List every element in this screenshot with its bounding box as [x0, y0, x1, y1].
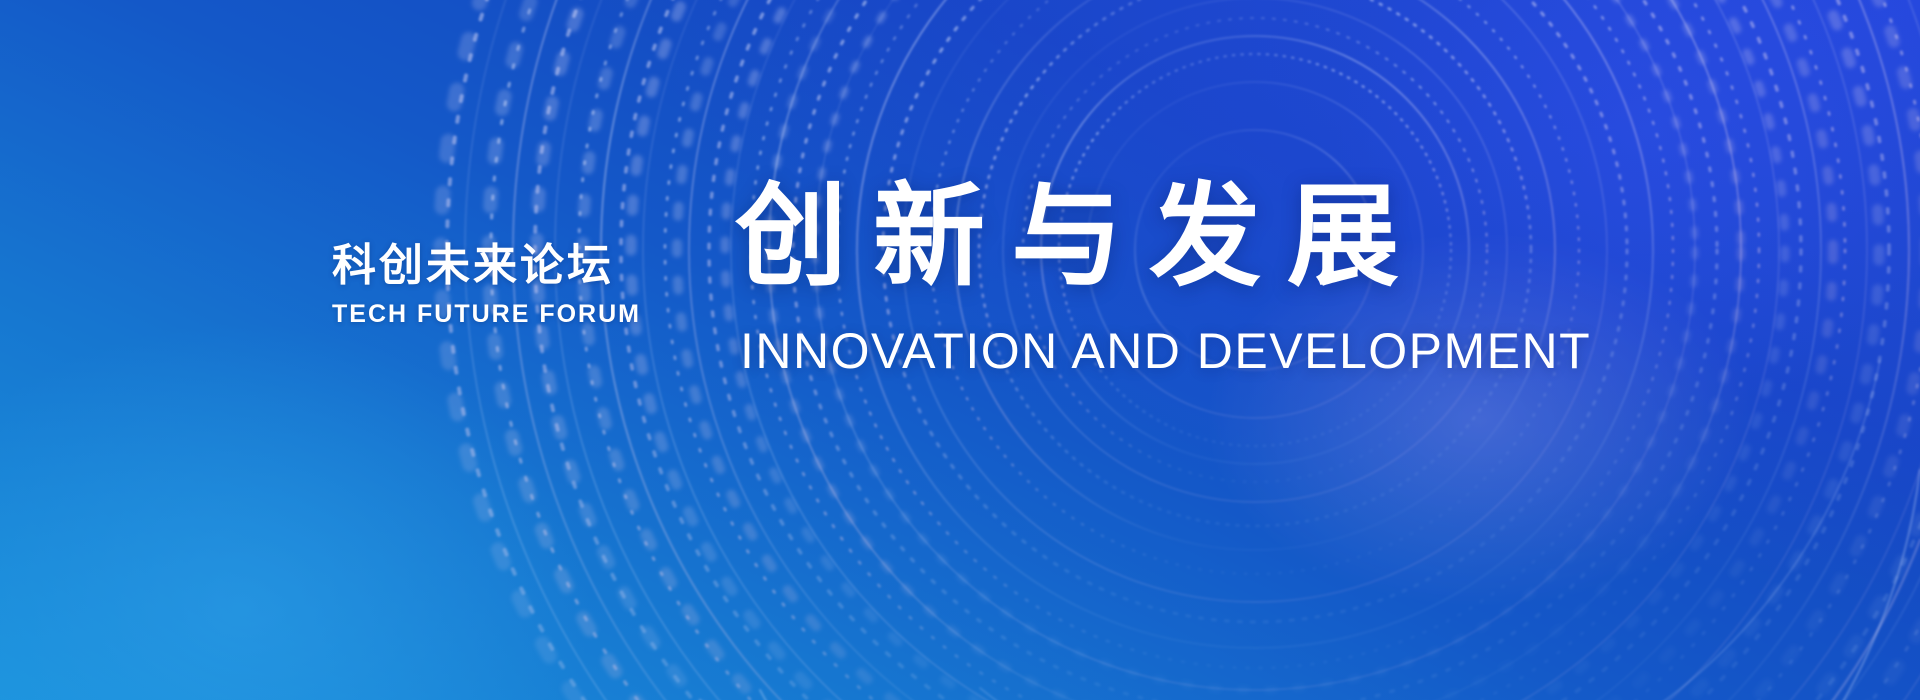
brand-name-en: TECH FUTURE FORUM	[332, 301, 612, 329]
headline-title-cn: 创新与发展	[735, 172, 1855, 302]
brand-name-cn: 科创未来论坛	[332, 238, 612, 294]
brand-lockup: 科创未来论坛 TECH FUTURE FORUM	[332, 238, 612, 329]
headline-title-en: INNOVATION AND DEVELOPMENT	[740, 324, 1855, 379]
headline-lockup: 创新与发展 INNOVATION AND DEVELOPMENT	[735, 172, 1855, 379]
forum-banner: 科创未来论坛 TECH FUTURE FORUM 创新与发展 INNOVATIO…	[0, 0, 1920, 700]
banner-content: 科创未来论坛 TECH FUTURE FORUM 创新与发展 INNOVATIO…	[0, 0, 1920, 700]
